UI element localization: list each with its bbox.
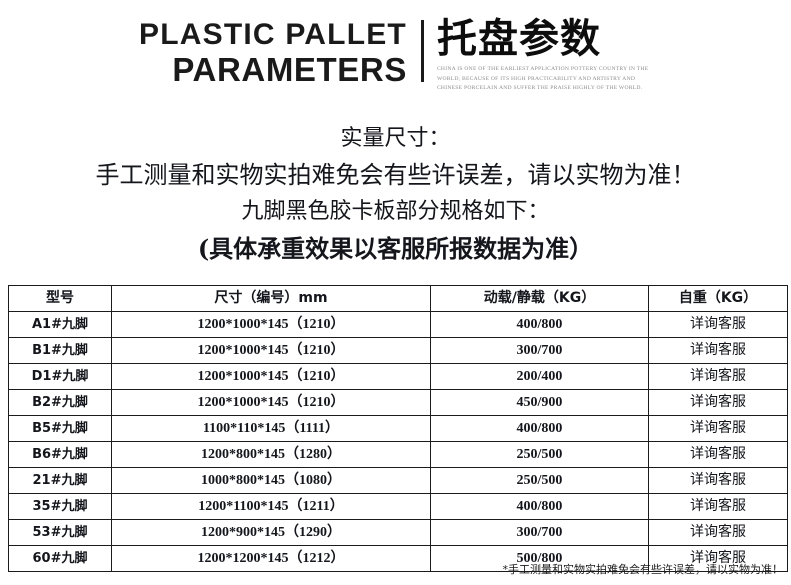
- cell-model: B2#九脚: [9, 390, 112, 416]
- intro-text-block: 实量尺寸： 手工测量和实物实拍难免会有些许误差，请以实物为准！ 九脚黑色胶卡板部…: [0, 122, 791, 268]
- spec-table-wrapper: 型号 尺寸（编号）mm 动载/静载（KG） 自重（KG） A1#九脚1200*1…: [8, 285, 783, 572]
- intro-line-2: 手工测量和实物实拍难免会有些许误差，请以实物为准！: [0, 156, 791, 194]
- header-inner: PLASTIC PALLET PARAMETERS 托盘参数 CHINA IS …: [139, 18, 652, 94]
- cell-weight: 详询客服: [649, 338, 788, 364]
- cell-model: B6#九脚: [9, 442, 112, 468]
- cell-load: 200/400: [431, 364, 649, 390]
- table-row: B2#九脚1200*1000*145（1210）450/900详询客服: [9, 390, 788, 416]
- table-row: D1#九脚1200*1000*145（1210）200/400详询客服: [9, 364, 788, 390]
- cell-model: 21#九脚: [9, 468, 112, 494]
- table-row: 21#九脚1000*800*145（1080）250/500详询客服: [9, 468, 788, 494]
- cell-model: 60#九脚: [9, 546, 112, 572]
- cell-size: 1200*1000*145（1210）: [112, 338, 431, 364]
- cell-weight: 详询客服: [649, 364, 788, 390]
- table-row: B1#九脚1200*1000*145（1210）300/700详询客服: [9, 338, 788, 364]
- page-header: PLASTIC PALLET PARAMETERS 托盘参数 CHINA IS …: [0, 0, 791, 110]
- cell-weight: 详询客服: [649, 390, 788, 416]
- cell-size: 1200*900*145（1290）: [112, 520, 431, 546]
- cell-size: 1200*1000*145（1210）: [112, 312, 431, 338]
- cell-size: 1000*800*145（1080）: [112, 468, 431, 494]
- cell-model: B1#九脚: [9, 338, 112, 364]
- cell-load: 400/800: [431, 416, 649, 442]
- column-header-model: 型号: [9, 286, 112, 312]
- cell-load: 400/800: [431, 312, 649, 338]
- chinese-title-block: 托盘参数 CHINA IS ONE OF THE EARLIEST APPLIC…: [424, 18, 652, 94]
- cell-load: 250/500: [431, 468, 649, 494]
- table-row: 35#九脚1200*1100*145（1211）400/800详询客服: [9, 494, 788, 520]
- intro-line-3: 九脚黑色胶卡板部分规格如下：: [0, 194, 791, 230]
- cell-model: 35#九脚: [9, 494, 112, 520]
- column-header-weight: 自重（KG）: [649, 286, 788, 312]
- column-header-size: 尺寸（编号）mm: [112, 286, 431, 312]
- chinese-subtitle-english: CHINA IS ONE OF THE EARLIEST APPLICATION…: [437, 65, 652, 94]
- cell-weight: 详询客服: [649, 494, 788, 520]
- chinese-title: 托盘参数: [437, 18, 652, 60]
- table-row: 53#九脚1200*900*145（1290）300/700详询客服: [9, 520, 788, 546]
- cell-weight: 详询客服: [649, 520, 788, 546]
- cell-size: 1200*800*145（1280）: [112, 442, 431, 468]
- intro-line-1: 实量尺寸：: [0, 122, 791, 156]
- spec-table: 型号 尺寸（编号）mm 动载/静载（KG） 自重（KG） A1#九脚1200*1…: [8, 285, 788, 572]
- cell-weight: 详询客服: [649, 312, 788, 338]
- footnote-text: *手工测量和实物实拍难免会有些许误差，请以实物为准！: [503, 561, 784, 577]
- english-title-line1: PLASTIC PALLET: [139, 18, 407, 52]
- cell-size: 1200*1100*145（1211）: [112, 494, 431, 520]
- cell-load: 450/900: [431, 390, 649, 416]
- cell-load: 250/500: [431, 442, 649, 468]
- english-title-line2: PARAMETERS: [139, 52, 407, 89]
- cell-model: D1#九脚: [9, 364, 112, 390]
- cell-size: 1200*1000*145（1210）: [112, 364, 431, 390]
- spec-table-head: 型号 尺寸（编号）mm 动载/静载（KG） 自重（KG）: [9, 286, 788, 312]
- table-row: B6#九脚1200*800*145（1280）250/500详询客服: [9, 442, 788, 468]
- cell-size: 1200*1000*145（1210）: [112, 390, 431, 416]
- cell-size: 1200*1200*145（1212）: [112, 546, 431, 572]
- cell-model: A1#九脚: [9, 312, 112, 338]
- table-row: B5#九脚1100*110*145（1111）400/800详询客服: [9, 416, 788, 442]
- intro-line-4: (具体承重效果以客服所报数据为准）: [0, 230, 791, 268]
- cell-size: 1100*110*145（1111）: [112, 416, 431, 442]
- cell-model: 53#九脚: [9, 520, 112, 546]
- table-row: A1#九脚1200*1000*145（1210）400/800详询客服: [9, 312, 788, 338]
- cell-weight: 详询客服: [649, 442, 788, 468]
- english-title-block: PLASTIC PALLET PARAMETERS: [139, 18, 421, 94]
- cell-load: 400/800: [431, 494, 649, 520]
- table-header-row: 型号 尺寸（编号）mm 动载/静载（KG） 自重（KG）: [9, 286, 788, 312]
- cell-load: 300/700: [431, 338, 649, 364]
- cell-weight: 详询客服: [649, 468, 788, 494]
- column-header-load: 动载/静载（KG）: [431, 286, 649, 312]
- cell-model: B5#九脚: [9, 416, 112, 442]
- cell-weight: 详询客服: [649, 416, 788, 442]
- spec-table-body: A1#九脚1200*1000*145（1210）400/800详询客服B1#九脚…: [9, 312, 788, 572]
- cell-load: 300/700: [431, 520, 649, 546]
